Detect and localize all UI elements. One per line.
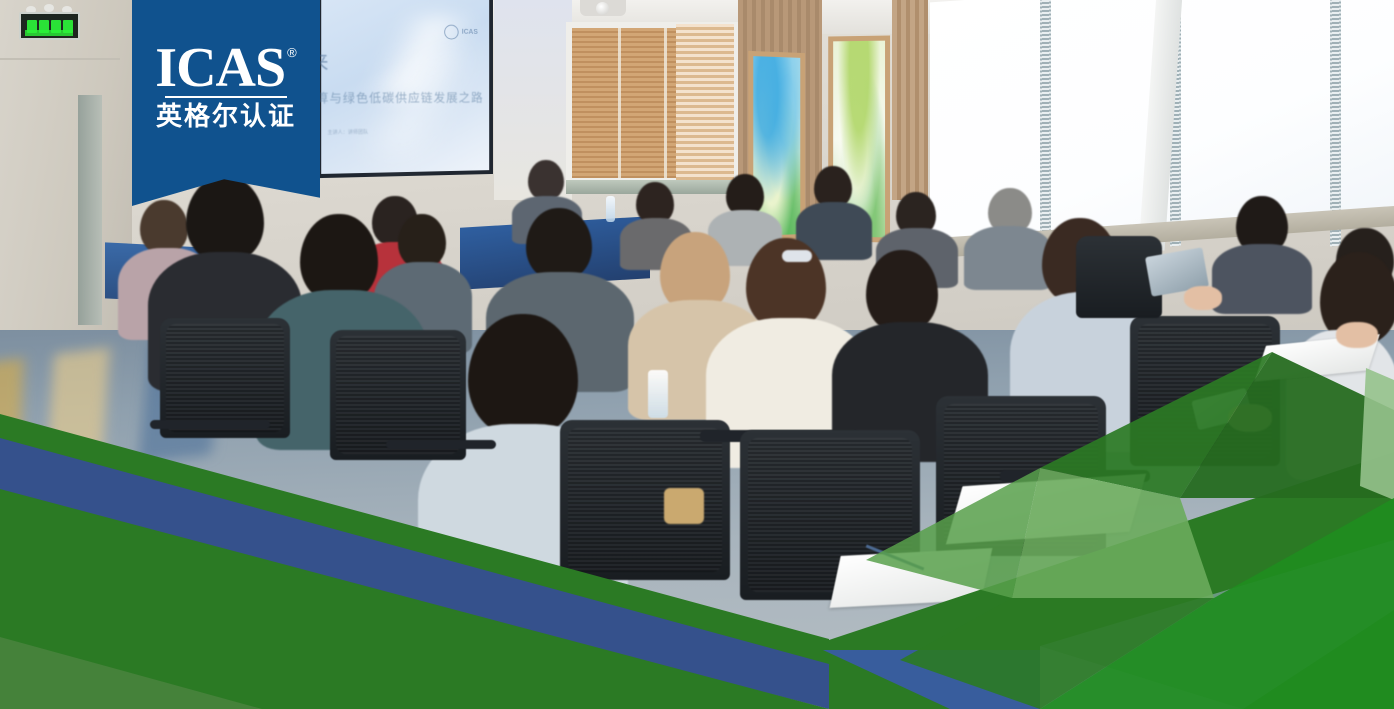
icas-wordmark: ICAS (155, 42, 285, 94)
attendee-head (186, 176, 264, 262)
chair-mesh (1138, 324, 1272, 458)
bag (664, 488, 704, 524)
blind-cord-icon (618, 28, 621, 178)
door-edge (78, 95, 102, 325)
blind-cord-icon (664, 28, 667, 178)
chair-armrest (386, 440, 496, 449)
attendee-head (300, 214, 378, 302)
emergency-exit-sign (19, 12, 80, 40)
document-paper (830, 548, 993, 608)
exit-sign-underbar-icon (25, 30, 73, 36)
attendee-head (526, 208, 592, 280)
icas-logo-banner: ICAS ® 英格尔认证 (132, 0, 320, 206)
attendee-body (964, 226, 1052, 290)
chair-mesh (166, 324, 284, 432)
water-bottle (606, 196, 615, 222)
slide-logo-mark-icon (444, 25, 458, 40)
attendee-head (140, 200, 188, 254)
icas-chinese-name: 英格尔认证 (156, 102, 296, 132)
hand (1184, 286, 1222, 310)
wall-seam (0, 58, 120, 60)
slide-subline: 核算与绿色低碳供应链发展之路 (303, 89, 484, 107)
sign-mount-icon (44, 4, 54, 12)
attendee-head (528, 160, 564, 200)
projection-screen: ICAS 来 核算与绿色低碳供应链发展之路 主讲人：讲师团队 (321, 0, 489, 174)
chair-mesh (336, 336, 460, 454)
office-chair (1130, 316, 1280, 466)
slide-logo-text: ICAS (462, 29, 478, 36)
slide-logo: ICAS (444, 25, 477, 40)
hand (1228, 404, 1272, 432)
chair-armrest (150, 420, 270, 429)
attendee-head (866, 250, 938, 332)
registered-trademark-icon: ® (287, 46, 297, 59)
attendee-head-front (468, 314, 578, 436)
slide-footnote: 主讲人：讲师团队 (327, 129, 368, 137)
icas-wordmark-row: ICAS ® (155, 42, 296, 94)
attendee-body (1212, 244, 1312, 314)
water-bottle (648, 370, 668, 418)
venetian-blinds-open (676, 24, 734, 182)
office-chair (560, 420, 730, 580)
hand (1336, 322, 1378, 348)
banner-canvas: ICAS 来 核算与绿色低碳供应链发展之路 主讲人：讲师团队 (0, 0, 1394, 709)
ceiling-light-icon (596, 2, 609, 15)
wood-wall-panel (892, 0, 928, 200)
hair-clip-icon (782, 250, 812, 262)
window-mullion (1040, 0, 1051, 246)
attendee-head (398, 214, 446, 268)
